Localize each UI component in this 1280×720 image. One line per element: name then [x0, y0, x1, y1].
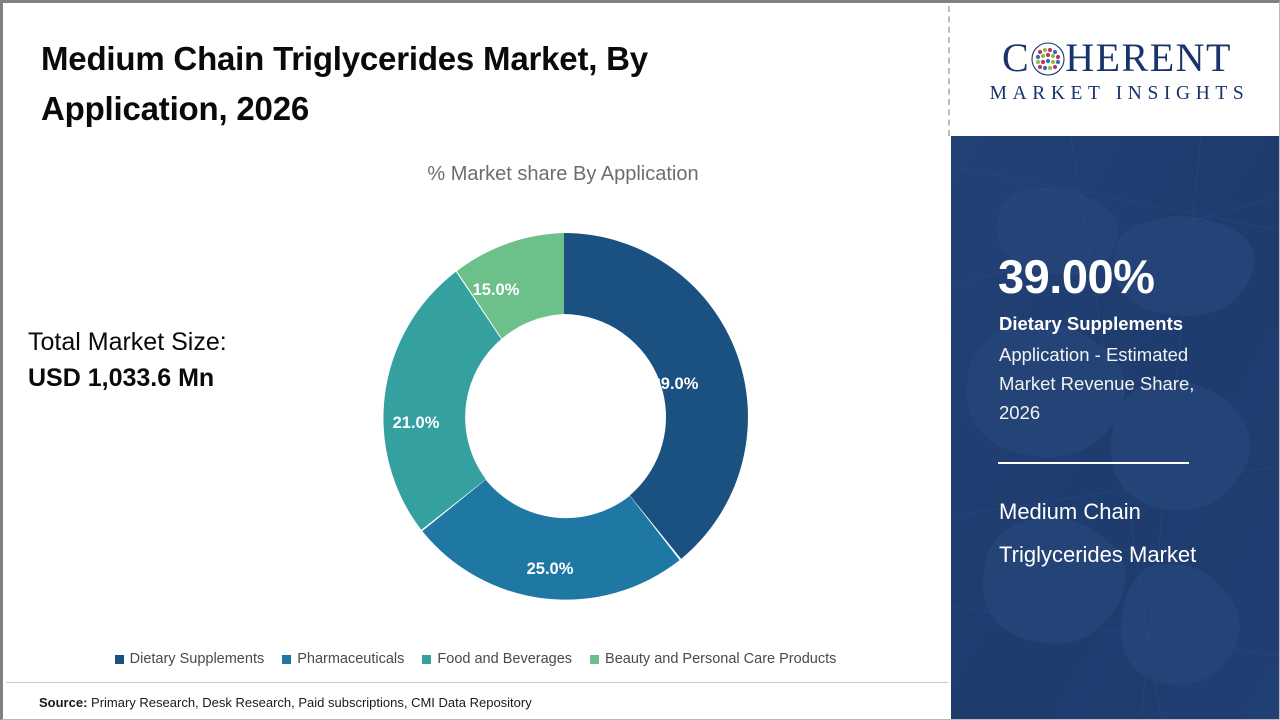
donut-chart: 39.0% 25.0% 21.0% 15.0% — [378, 231, 750, 603]
brand-logo[interactable]: C — [952, 6, 1280, 136]
slice-label-food-and-beverages: 21.0% — [393, 414, 440, 432]
legend-swatch-icon — [282, 655, 291, 664]
page-title: Medium Chain Triglycerides Market, By Ap… — [41, 34, 781, 134]
slice-label-dietary-supplements: 39.0% — [652, 375, 699, 393]
legend-swatch-icon — [115, 655, 124, 664]
highlight-stat-panel: 39.00% Dietary Supplements Application -… — [951, 136, 1280, 720]
footer-source-text: Primary Research, Desk Research, Paid su… — [87, 695, 531, 710]
donut-chart-svg: 39.0% 25.0% 21.0% 15.0% — [378, 231, 750, 603]
logo-wordmark-secondary: MARKET INSIGHTS — [985, 83, 1250, 105]
legend-item-beauty-and-personal-care-products[interactable]: Beauty and Personal Care Products — [590, 651, 836, 667]
stat-panel-market-name: Medium Chain Triglycerides Market — [999, 491, 1249, 577]
stat-panel-divider — [998, 462, 1189, 464]
chart-legend: Dietary Supplements Pharmaceuticals Food… — [3, 651, 948, 667]
total-market-size-label: Total Market Size: — [28, 328, 227, 356]
stat-value: 39.00% — [998, 253, 1154, 300]
legend-label: Pharmaceuticals — [297, 651, 404, 667]
donut-slice-dietary-supplements[interactable] — [564, 233, 748, 559]
legend-item-pharmaceuticals[interactable]: Pharmaceuticals — [282, 651, 404, 667]
total-market-size: Total Market Size: USD 1,033.6 Mn — [28, 325, 227, 396]
logo-letter-c: C — [1002, 38, 1030, 78]
vertical-dashed-divider — [948, 6, 950, 136]
legend-swatch-icon — [590, 655, 599, 664]
footer-divider — [6, 682, 948, 683]
legend-item-food-and-beverages[interactable]: Food and Beverages — [422, 651, 572, 667]
legend-label: Beauty and Personal Care Products — [605, 651, 836, 667]
stat-segment-name: Dietary Supplements — [999, 313, 1183, 335]
total-market-size-value: USD 1,033.6 Mn — [28, 361, 227, 397]
logo-wordmark-rest: HERENT — [1065, 38, 1232, 78]
logo-wordmark-primary: C — [1002, 38, 1232, 78]
stat-description: Application - Estimated Market Revenue S… — [999, 340, 1239, 428]
legend-label: Dietary Supplements — [130, 651, 265, 667]
legend-item-dietary-supplements[interactable]: Dietary Supplements — [115, 651, 265, 667]
stat-panel-content: 39.00% Dietary Supplements Application -… — [951, 136, 1280, 720]
legend-swatch-icon — [422, 655, 431, 664]
chart-subtitle: % Market share By Application — [268, 163, 858, 186]
footer-source-label: Source: — [39, 695, 87, 710]
left-content-panel: Medium Chain Triglycerides Market, By Ap… — [3, 3, 948, 720]
legend-label: Food and Beverages — [437, 651, 572, 667]
infographic-root: Medium Chain Triglycerides Market, By Ap… — [0, 0, 1280, 720]
slice-label-beauty-and-personal-care-products: 15.0% — [473, 281, 520, 299]
globe-icon — [1031, 42, 1064, 75]
slice-label-pharmaceuticals: 25.0% — [527, 560, 574, 578]
footer-source: Source: Primary Research, Desk Research,… — [39, 695, 532, 710]
